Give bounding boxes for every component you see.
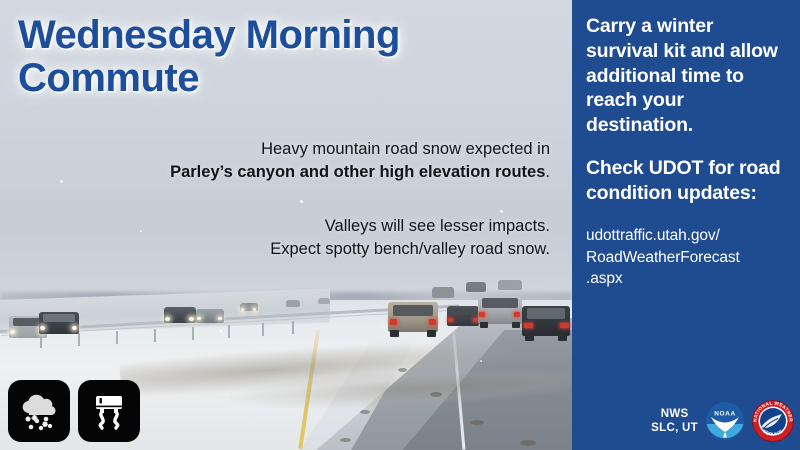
road-grime [340, 438, 351, 442]
vehicle-distant [432, 284, 454, 300]
forecast-text: Heavy mountain road snow expected in Par… [40, 138, 550, 262]
guardrail-post [262, 323, 264, 336]
office-line-2: SLC, UT [651, 421, 698, 435]
nws-seal-icon: NATIONAL WEATHER SERVICE [752, 400, 794, 442]
udot-url[interactable]: udottraffic.utah.gov/ RoadWeatherForecas… [586, 225, 788, 289]
page-title: Wednesday Morning Commute [18, 14, 538, 100]
svg-text:NOAA: NOAA [714, 411, 736, 418]
vehicle-oncoming-suv [38, 306, 82, 340]
vehicle-suv [476, 288, 524, 332]
vehicle-sedan [446, 300, 480, 332]
forecast-line-2-period: . [545, 163, 550, 181]
guardrail-post [154, 329, 156, 342]
vehicle-oncoming-distant [286, 298, 300, 309]
advisory-panel: Carry a winter survival kit and allow ad… [572, 0, 800, 450]
road-grime [398, 368, 407, 372]
office-line-1: NWS [651, 407, 698, 421]
guardrail-post [228, 325, 230, 338]
office-identifier: NWS SLC, UT [651, 407, 698, 436]
weather-advisory-graphic: Wednesday Morning Commute Heavy mountain… [0, 0, 800, 450]
vehicle-distant [498, 278, 522, 292]
forecast-line-3: Valleys will see lesser impacts. [40, 215, 550, 238]
snowy-highway-photo: Wednesday Morning Commute Heavy mountain… [0, 0, 572, 450]
guardrail-post [192, 327, 194, 340]
spacer [40, 185, 550, 215]
road-grime [360, 410, 370, 414]
url-line-3: .aspx [586, 268, 788, 289]
vehicle-oncoming-car [196, 304, 226, 328]
title-line-1: Wednesday Morning [18, 14, 538, 57]
url-line-2: RoadWeatherForecast [586, 247, 788, 268]
spacer [586, 138, 788, 156]
vehicle-distant [466, 280, 486, 294]
vehicle-hatchback [520, 296, 572, 344]
vehicle-oncoming-truck [164, 302, 198, 328]
forecast-line-2-bold: Parley’s canyon and other high elevation… [170, 163, 545, 181]
advisory-paragraph-2: Check UDOT for road condition updates: [586, 156, 788, 206]
branding-row: NWS SLC, UT NOAA [651, 400, 794, 442]
noaa-logo-icon: NOAA [705, 401, 745, 441]
guardrail-post [116, 331, 118, 344]
forecast-line-2: Parley’s canyon and other high elevation… [40, 161, 550, 184]
guardrail-post [292, 321, 294, 334]
hazard-pictogram-row [8, 380, 140, 442]
slippery-road-icon [78, 380, 140, 442]
vehicle-oncoming-distant [318, 296, 330, 306]
title-line-2: Commute [18, 57, 538, 100]
road-grime [520, 440, 536, 446]
forecast-line-4: Expect spotty bench/valley road snow. [40, 238, 550, 261]
forecast-line-1: Heavy mountain road snow expected in [40, 138, 550, 161]
advisory-paragraph-1: Carry a winter survival kit and allow ad… [586, 14, 788, 138]
snow-shower-icon [8, 380, 70, 442]
road-grime [470, 420, 484, 425]
road-grime [430, 392, 442, 397]
snowflake [480, 360, 482, 362]
snowflake [220, 330, 222, 332]
url-line-1: udottraffic.utah.gov/ [586, 225, 788, 246]
vehicle-oncoming-distant [240, 300, 258, 313]
